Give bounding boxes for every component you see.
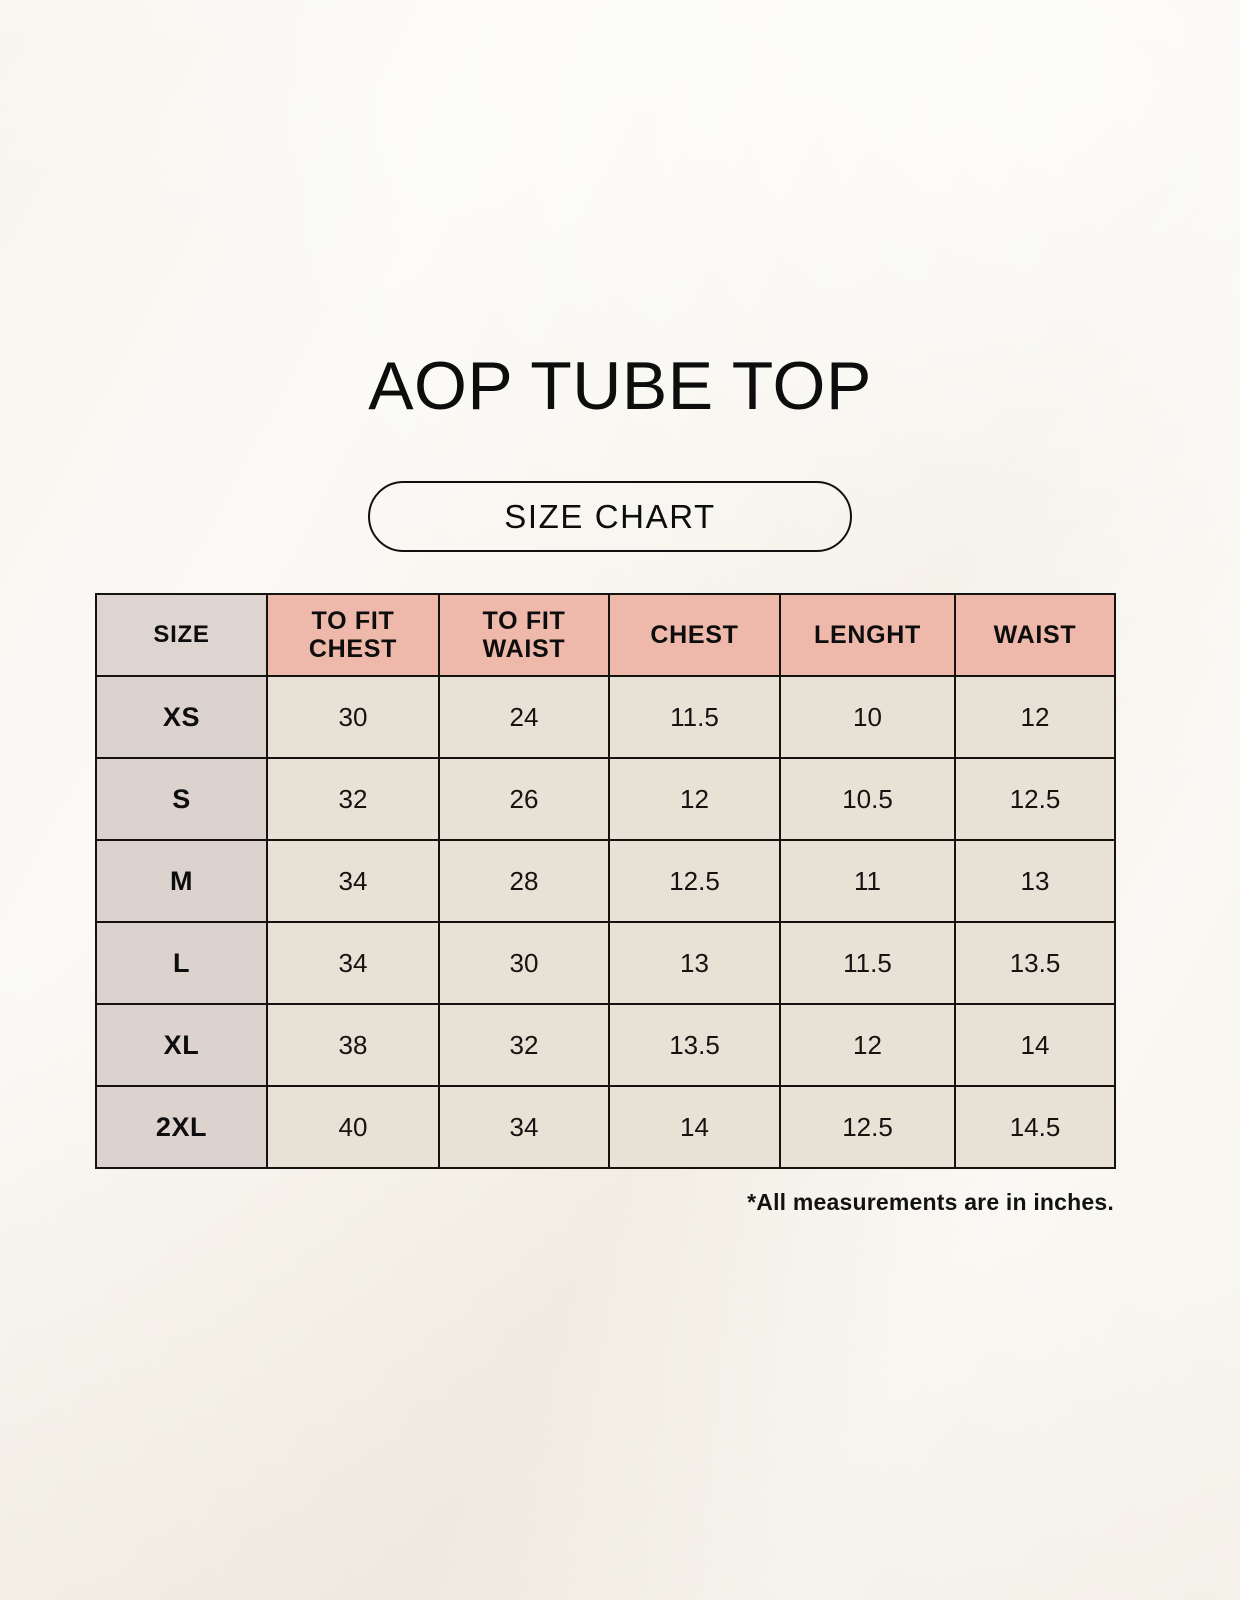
table-row: XS 30 24 11.5 10 12: [96, 676, 1115, 758]
cell-size: L: [96, 922, 267, 1004]
cell-lenght: 11: [780, 840, 955, 922]
cell-lenght: 10.5: [780, 758, 955, 840]
cell-chest: 13.5: [609, 1004, 780, 1086]
cell-to-fit-waist: 24: [439, 676, 609, 758]
cell-to-fit-waist: 30: [439, 922, 609, 1004]
cell-waist: 14.5: [955, 1086, 1115, 1168]
size-chart-table: SIZE TO FIT CHEST TO FIT WAIST CHEST LEN: [95, 593, 1116, 1169]
column-header-size: SIZE: [96, 594, 267, 676]
table-row: S 32 26 12 10.5 12.5: [96, 758, 1115, 840]
cell-waist: 12: [955, 676, 1115, 758]
column-header-chest: CHEST: [609, 594, 780, 676]
size-chart-badge-label: SIZE CHART: [504, 498, 716, 536]
cell-lenght: 10: [780, 676, 955, 758]
page-title: AOP TUBE TOP: [0, 352, 1240, 420]
size-chart-page: AOP TUBE TOP SIZE CHART SIZE TO FIT CHES…: [0, 0, 1240, 1600]
size-chart-badge: SIZE CHART: [368, 481, 852, 552]
table-row: M 34 28 12.5 11 13: [96, 840, 1115, 922]
cell-waist: 13: [955, 840, 1115, 922]
cell-waist: 13.5: [955, 922, 1115, 1004]
column-header-chest-line-1: CHEST: [614, 621, 775, 650]
cell-lenght: 11.5: [780, 922, 955, 1004]
cell-size: XS: [96, 676, 267, 758]
cell-chest: 11.5: [609, 676, 780, 758]
cell-waist: 14: [955, 1004, 1115, 1086]
cell-size: S: [96, 758, 267, 840]
column-header-lenght: LENGHT: [780, 594, 955, 676]
cell-to-fit-chest: 30: [267, 676, 439, 758]
cell-to-fit-waist: 34: [439, 1086, 609, 1168]
cell-size: 2XL: [96, 1086, 267, 1168]
column-header-lenght-line-1: LENGHT: [785, 621, 950, 650]
table-row: XL 38 32 13.5 12 14: [96, 1004, 1115, 1086]
column-header-to-fit-waist-line-2: WAIST: [444, 635, 604, 664]
cell-chest: 12: [609, 758, 780, 840]
cell-to-fit-chest: 34: [267, 840, 439, 922]
cell-chest: 13: [609, 922, 780, 1004]
measurement-units-footnote: *All measurements are in inches.: [95, 1189, 1114, 1216]
column-header-waist-line-1: WAIST: [960, 621, 1110, 650]
cell-size: XL: [96, 1004, 267, 1086]
cell-to-fit-chest: 32: [267, 758, 439, 840]
cell-lenght: 12.5: [780, 1086, 955, 1168]
cell-to-fit-chest: 40: [267, 1086, 439, 1168]
cell-to-fit-waist: 28: [439, 840, 609, 922]
column-header-to-fit-chest-line-1: TO FIT: [272, 607, 434, 636]
cell-waist: 12.5: [955, 758, 1115, 840]
cell-to-fit-chest: 34: [267, 922, 439, 1004]
column-header-size-line-1: SIZE: [101, 621, 262, 648]
table-row: L 34 30 13 11.5 13.5: [96, 922, 1115, 1004]
column-header-to-fit-waist-line-1: TO FIT: [444, 607, 604, 636]
column-header-to-fit-chest: TO FIT CHEST: [267, 594, 439, 676]
cell-lenght: 12: [780, 1004, 955, 1086]
size-chart-table-container: SIZE TO FIT CHEST TO FIT WAIST CHEST LEN: [95, 593, 1114, 1169]
table-row: 2XL 40 34 14 12.5 14.5: [96, 1086, 1115, 1168]
cell-size: M: [96, 840, 267, 922]
cell-chest: 12.5: [609, 840, 780, 922]
cell-chest: 14: [609, 1086, 780, 1168]
cell-to-fit-waist: 32: [439, 1004, 609, 1086]
column-header-to-fit-chest-line-2: CHEST: [272, 635, 434, 664]
column-header-to-fit-waist: TO FIT WAIST: [439, 594, 609, 676]
cell-to-fit-chest: 38: [267, 1004, 439, 1086]
table-header-row: SIZE TO FIT CHEST TO FIT WAIST CHEST LEN: [96, 594, 1115, 676]
column-header-waist: WAIST: [955, 594, 1115, 676]
cell-to-fit-waist: 26: [439, 758, 609, 840]
